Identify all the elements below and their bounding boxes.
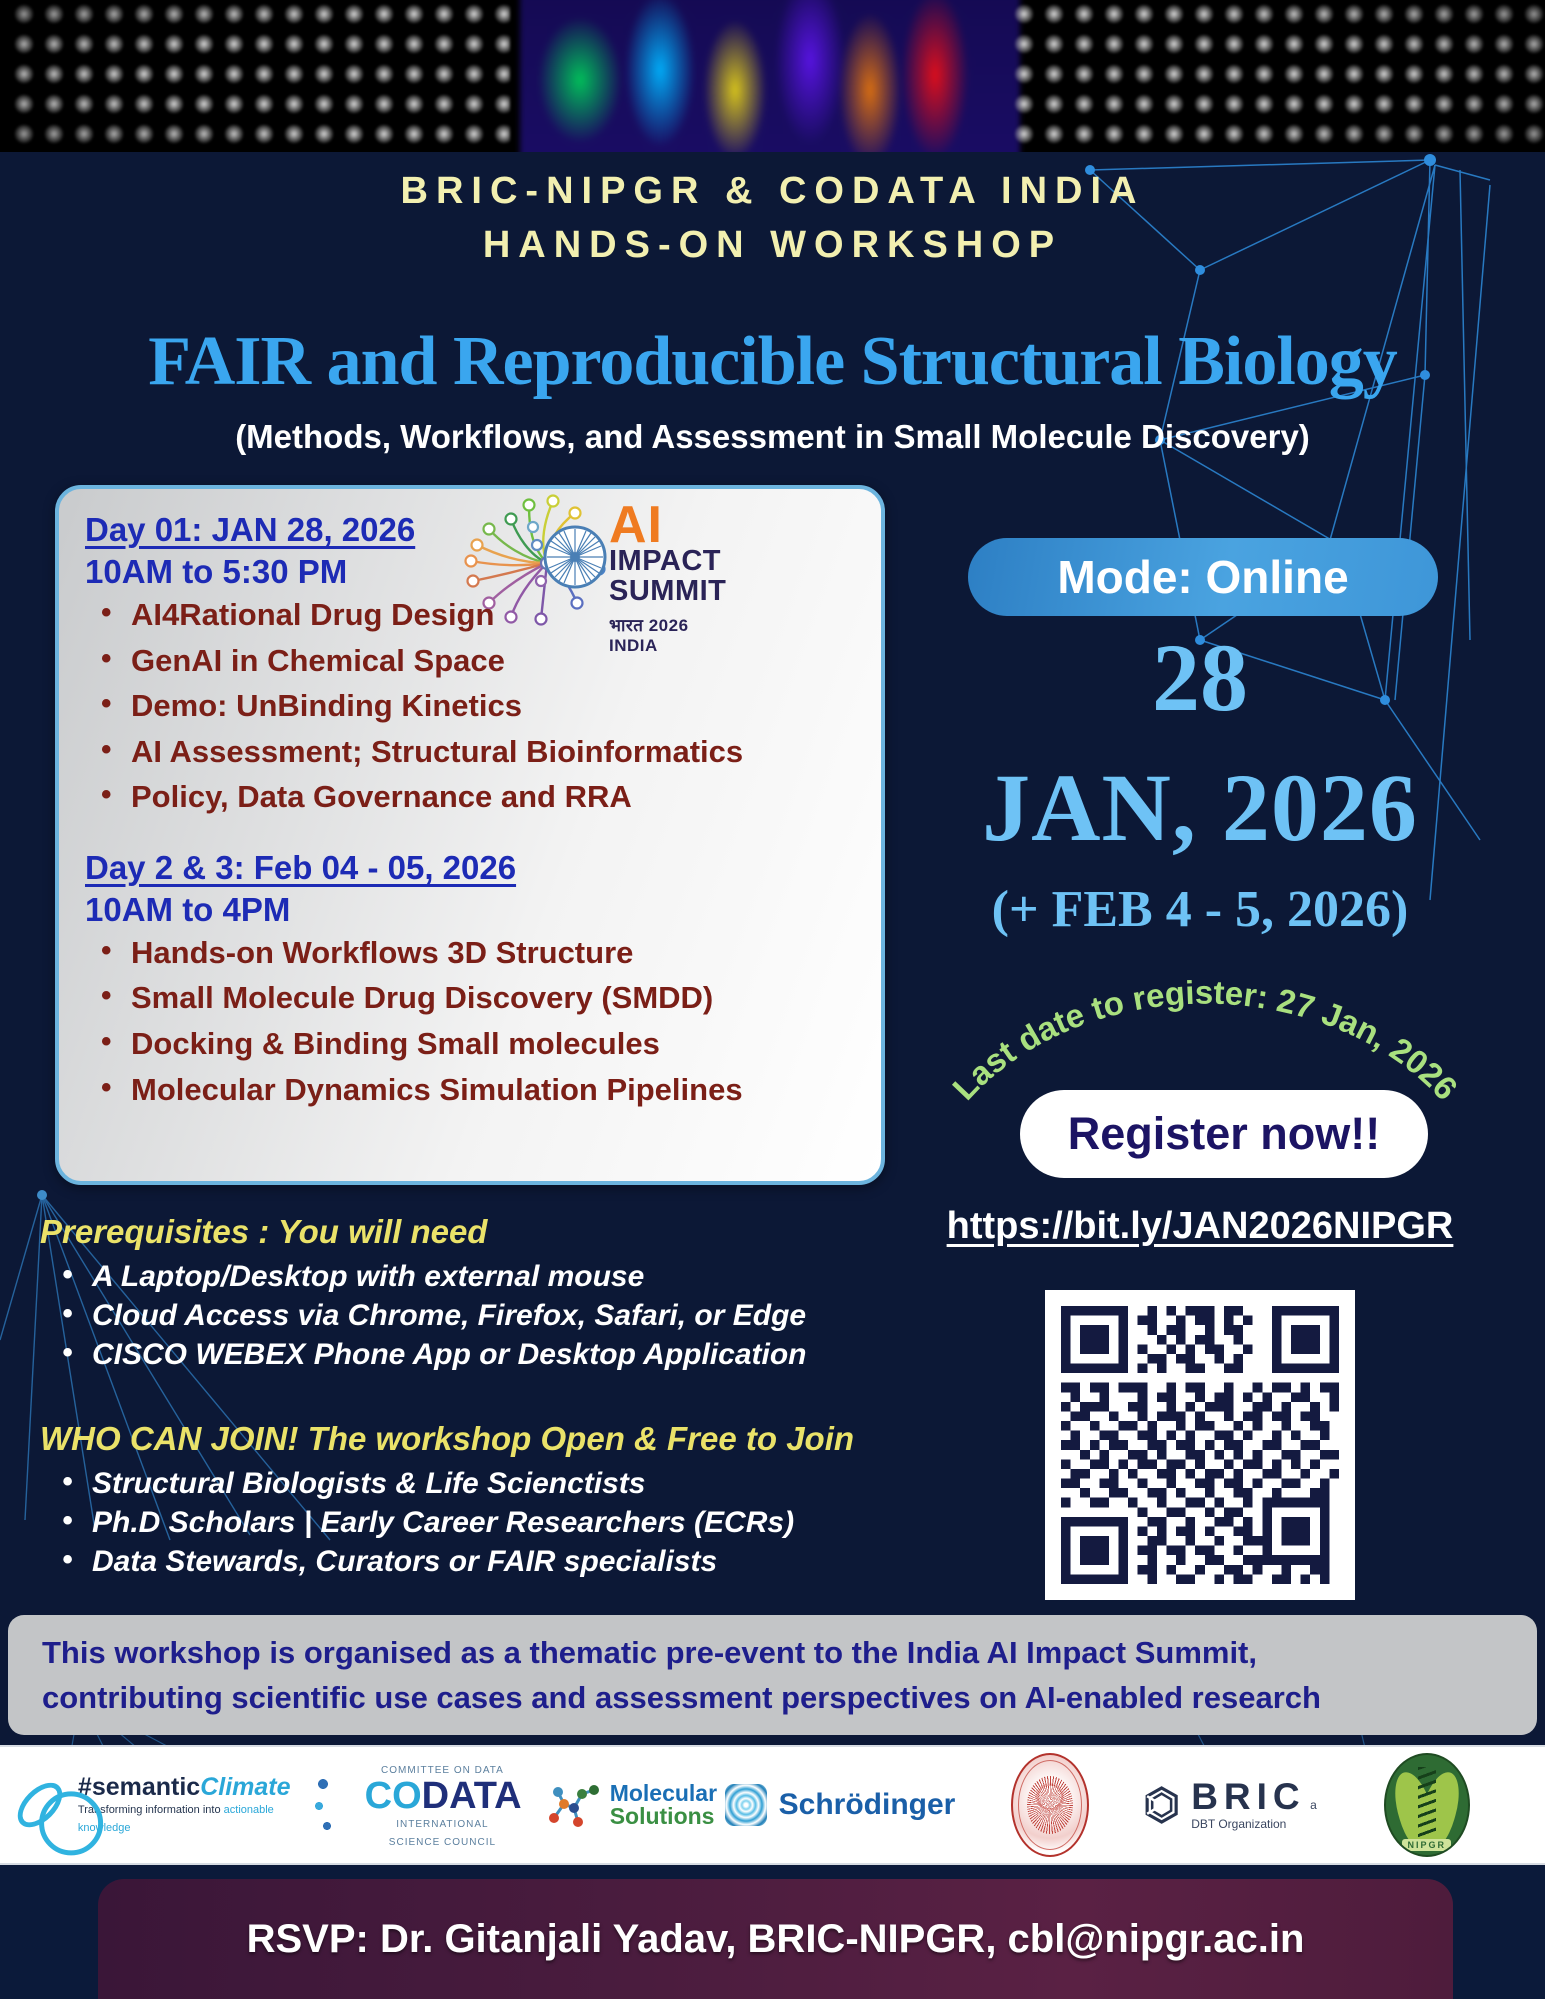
codata-logo: COMMITTEE ON DATA CODATA INTERNATIONALSC… bbox=[313, 1747, 537, 1863]
last-date-text: Last date to register: 27 Jan, 2026 bbox=[945, 974, 1465, 1107]
list-item: Hands-on Workflows 3D Structure bbox=[85, 935, 855, 972]
list-item: Molecular Dynamics Simulation Pipelines bbox=[85, 1072, 855, 1109]
footer-wrap: RSVP: Dr. Gitanjali Yadav, BRIC-NIPGR, c… bbox=[0, 1865, 1545, 1999]
list-item: Cloud Access via Chrome, Firefox, Safari… bbox=[40, 1296, 940, 1335]
day2-3-topic-list: Hands-on Workflows 3D Structure Small Mo… bbox=[85, 935, 855, 1108]
event-extra-dates: (+ FEB 4 - 5, 2026) bbox=[880, 880, 1520, 939]
list-item: Ph.D Scholars | Early Career Researchers… bbox=[40, 1503, 1000, 1542]
note-line-2: contributing scientific use cases and as… bbox=[42, 1676, 1503, 1721]
list-item: Docking & Binding Small molecules bbox=[85, 1026, 855, 1063]
day1-topic-list: AI4Rational Drug Design GenAI in Chemica… bbox=[85, 597, 855, 816]
day2-3-time: 10AM to 4PM bbox=[85, 891, 855, 929]
molecular-solutions-logo: Molecular Solutions bbox=[536, 1747, 725, 1863]
schrodinger-wave-icon bbox=[725, 1784, 767, 1826]
who-can-join-heading: WHO CAN JOIN! The workshop Open & Free t… bbox=[40, 1420, 1000, 1458]
prerequisites-heading: Prerequisites : You will need bbox=[40, 1213, 940, 1251]
list-item: Policy, Data Governance and RRA bbox=[85, 779, 855, 816]
semanticclimate-wordmark: #semanticClimate bbox=[78, 1773, 291, 1801]
bric-wordmark: BRIC bbox=[1191, 1776, 1305, 1817]
day2-3-heading: Day 2 & 3: Feb 04 - 05, 2026 bbox=[85, 849, 855, 887]
bric-hexagon-icon bbox=[1144, 1775, 1179, 1835]
page-title: FAIR and Reproducible Structural Biology bbox=[0, 322, 1545, 402]
page-kicker: BRIC-NIPGR & CODATA INDIA HANDS-ON WORKS… bbox=[0, 165, 1545, 273]
list-item: AI Assessment; Structural Bioinformatics bbox=[85, 734, 855, 771]
nipgr-seal-icon: NIPGR bbox=[1384, 1753, 1470, 1857]
schrodinger-wordmark: Schrödinger bbox=[779, 1788, 956, 1822]
semanticclimate-tagline: Transforming information into actionable… bbox=[78, 1804, 274, 1834]
prerequisites-section: Prerequisites : You will need A Laptop/D… bbox=[40, 1213, 940, 1374]
insa-logo bbox=[955, 1747, 1144, 1863]
prerequisites-list: A Laptop/Desktop with external mouse Clo… bbox=[40, 1257, 940, 1374]
codata-wordmark: CODATA bbox=[365, 1775, 521, 1817]
event-month-year: JAN, 2026 bbox=[870, 760, 1530, 856]
codata-dots-icon bbox=[313, 1774, 343, 1836]
card-spacer bbox=[85, 825, 855, 849]
list-item: A Laptop/Desktop with external mouse bbox=[40, 1257, 940, 1296]
list-item: Structural Biologists & Life Scienctists bbox=[40, 1464, 1000, 1503]
qr-code-icon bbox=[1061, 1306, 1339, 1584]
mode-badge: Mode: Online bbox=[968, 538, 1438, 616]
schedule-card: AI IMPACTSUMMIT भारत 2026 INDIA Day 01: … bbox=[55, 485, 885, 1185]
rsvp-footer: RSVP: Dr. Gitanjali Yadav, BRIC-NIPGR, c… bbox=[98, 1879, 1453, 1999]
bric-logo: BRIC a DBT Organization bbox=[1144, 1747, 1333, 1863]
note-banner: This workshop is organised as a thematic… bbox=[8, 1615, 1537, 1735]
nipgr-logo: NIPGR bbox=[1332, 1747, 1521, 1863]
list-item: GenAI in Chemical Space bbox=[85, 643, 855, 680]
who-can-join-section: WHO CAN JOIN! The workshop Open & Free t… bbox=[40, 1420, 1000, 1581]
molecule-icon bbox=[544, 1778, 602, 1832]
qr-code-registration[interactable] bbox=[1045, 1290, 1355, 1600]
list-item: Demo: UnBinding Kinetics bbox=[85, 688, 855, 725]
kicker-line-1: BRIC-NIPGR & CODATA INDIA bbox=[0, 165, 1545, 219]
hero-protein-image bbox=[0, 0, 1545, 152]
sponsor-logo-bar: #semanticClimate Transforming informatio… bbox=[0, 1745, 1545, 1865]
registration-link[interactable]: https://bit.ly/JAN2026NIPGR bbox=[880, 1205, 1520, 1248]
semanticclimate-cloud-icon bbox=[10, 1775, 71, 1836]
register-now-button[interactable]: Register now!! bbox=[1020, 1090, 1428, 1178]
who-can-join-list: Structural Biologists & Life Scienctists… bbox=[40, 1464, 1000, 1581]
codata-bottom-text: INTERNATIONALSCIENCE COUNCIL bbox=[389, 1819, 496, 1848]
list-item: Small Molecule Drug Discovery (SMDD) bbox=[85, 980, 855, 1017]
list-item: AI4Rational Drug Design bbox=[85, 597, 855, 634]
hero-vignette bbox=[0, 0, 1545, 152]
note-line-1: This workshop is organised as a thematic… bbox=[42, 1631, 1503, 1676]
nipgr-tag-text: NIPGR bbox=[1402, 1839, 1451, 1851]
event-day-number: 28 bbox=[880, 630, 1520, 726]
schrodinger-logo: Schrödinger bbox=[725, 1747, 956, 1863]
semanticclimate-logo: #semanticClimate Transforming informatio… bbox=[24, 1747, 313, 1863]
list-item: CISCO WEBEX Phone App or Desktop Applica… bbox=[40, 1335, 940, 1374]
ashoka-chakra-icon bbox=[545, 527, 605, 587]
list-item: Data Stewards, Curators or FAIR speciali… bbox=[40, 1542, 1000, 1581]
molecular-solutions-line2: Solutions bbox=[610, 1803, 715, 1829]
kicker-line-2: HANDS-ON WORKSHOP bbox=[0, 219, 1545, 273]
page-subtitle: (Methods, Workflows, and Assessment in S… bbox=[0, 418, 1545, 456]
insa-seal-icon bbox=[1011, 1753, 1089, 1857]
